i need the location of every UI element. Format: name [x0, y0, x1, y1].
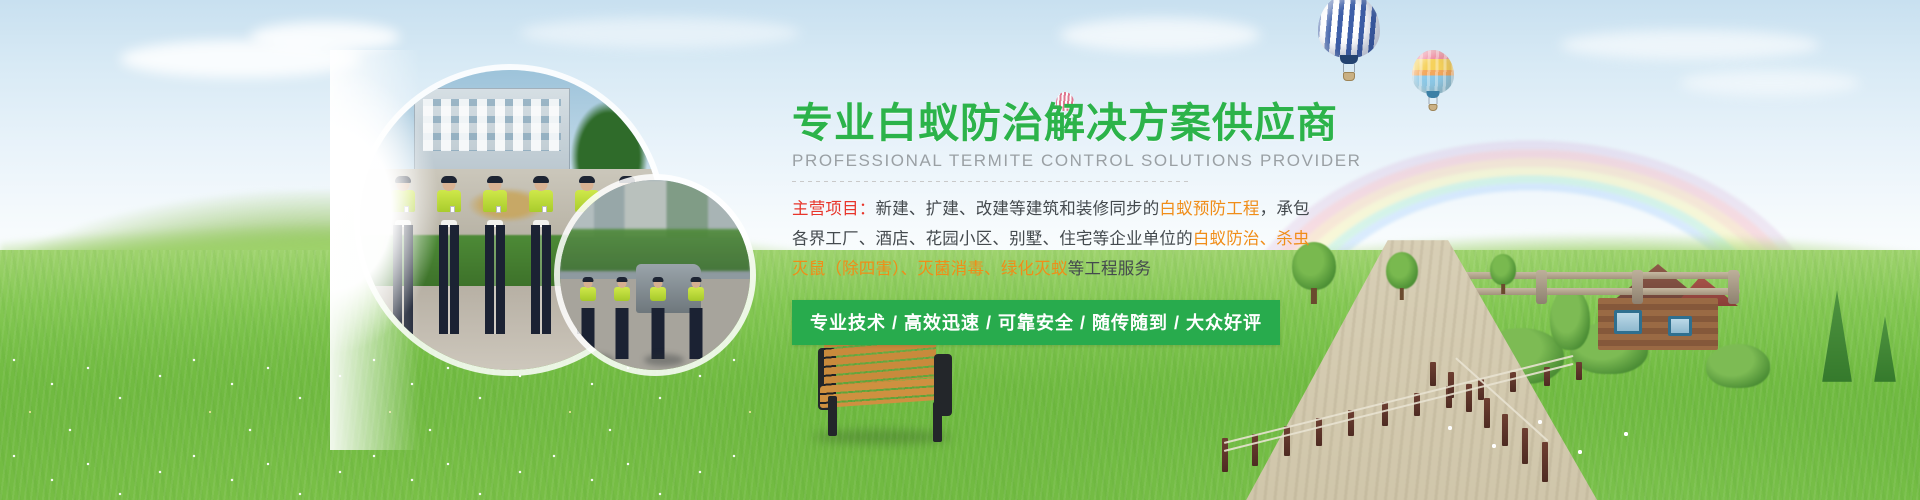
cabin-window — [1668, 316, 1692, 336]
body-line-2: 各界工厂、酒店、花园小区、别墅、住宅等企业单位的白蚁防治、杀虫 — [792, 224, 1202, 254]
body-line-1-highlight: 白蚁预防工程 — [1159, 200, 1259, 218]
cloud-icon — [1060, 18, 1260, 52]
balloon-ropes — [1343, 64, 1355, 72]
body-line-1: 主营项目：新建、扩建、改建等建筑和装修同步的白蚁预防工程，承包 — [792, 194, 1202, 224]
body-line-3-text-a: 等工程服务 — [1068, 260, 1152, 278]
cabin-window — [1614, 310, 1642, 334]
balloon-envelope — [1412, 50, 1454, 94]
photo-worker — [526, 178, 556, 334]
page-title: 专业白蚁防治解决方案供应商 — [792, 100, 1492, 147]
photo-worker — [480, 178, 510, 334]
body-line-3-highlight: 灭鼠（除四害）、灭菌消毒、绿化灭蚁 — [792, 260, 1068, 278]
photo-collage — [330, 50, 810, 450]
photo-worker — [388, 178, 418, 334]
photo-worker-walking — [648, 279, 668, 359]
body-line-2-text-a: 各界工厂、酒店、花园小区、别墅、住宅等企业单位的 — [792, 230, 1193, 248]
banner-copy: 专业白蚁防治解决方案供应商 PROFESSIONAL TERMITE CONTR… — [792, 100, 1492, 345]
photo-worker-walking — [686, 279, 706, 359]
page-subtitle: PROFESSIONAL TERMITE CONTROL SOLUTIONS P… — [792, 151, 1492, 171]
park-tree-icon — [1490, 254, 1516, 294]
team-photo-secondary — [560, 180, 750, 370]
conifer-tree-icon — [1822, 290, 1852, 382]
conifer-tree-icon — [1874, 316, 1896, 382]
cloud-icon — [1680, 70, 1860, 96]
hot-air-balloon-blue-icon — [1318, 0, 1380, 80]
cloud-icon — [1560, 30, 1820, 60]
main-services-label: 主营项目 — [792, 200, 859, 218]
cloud-icon — [520, 18, 800, 48]
colon: ： — [859, 200, 876, 218]
hero-banner: 专业白蚁防治解决方案供应商 PROFESSIONAL TERMITE CONTR… — [0, 0, 1920, 500]
bush-icon — [1706, 344, 1770, 388]
balloon-basket — [1343, 72, 1355, 81]
photo-worker-walking — [578, 279, 598, 359]
body-line-2-highlight: 白蚁防治、杀虫 — [1193, 230, 1310, 248]
photo-worker-walking — [612, 279, 632, 359]
photo-building — [414, 88, 570, 178]
body-line-1-text-a: 新建、扩建、改建等建筑和装修同步的 — [876, 200, 1160, 218]
photo-worker — [434, 178, 464, 334]
body-line-1-text-b: ，承包 — [1260, 200, 1310, 218]
daisy-cluster-right — [1430, 408, 1660, 470]
balloon-neck — [1340, 55, 1358, 64]
divider — [792, 181, 1188, 182]
bench-leg — [828, 396, 837, 436]
body-line-3: 灭鼠（除四害）、灭菌消毒、绿化灭蚁等工程服务 — [792, 254, 1202, 284]
bench-leg — [933, 402, 942, 442]
body-copy: 主营项目：新建、扩建、改建等建筑和装修同步的白蚁预防工程，承包 各界工厂、酒店、… — [792, 194, 1202, 284]
tagline-bar: 专业技术 / 高效迅速 / 可靠安全 / 随传随到 / 大众好评 — [792, 300, 1280, 345]
park-bench-icon — [818, 330, 948, 440]
cloud-icon — [250, 22, 400, 52]
balloon-envelope — [1318, 0, 1380, 58]
